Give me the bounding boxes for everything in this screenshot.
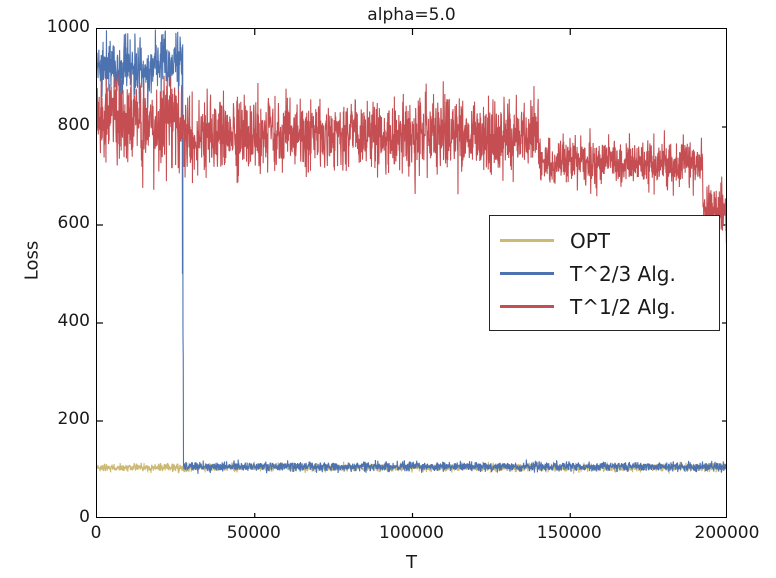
- legend-item[interactable]: T^2/3 Alg.: [500, 257, 709, 290]
- y-tick-label: 400: [4, 313, 90, 330]
- legend-item-label: OPT: [570, 230, 610, 252]
- x-axis-label: T: [96, 552, 727, 573]
- x-tick-label: 0: [91, 525, 102, 542]
- y-axis-tick-labels: 02004006008001000: [0, 0, 90, 578]
- x-tick-label: 100000: [379, 525, 444, 542]
- x-tick-label: 50000: [227, 525, 281, 542]
- legend-color-swatch: [500, 239, 554, 242]
- legend-color-swatch: [500, 305, 554, 308]
- legend-color-swatch: [500, 272, 554, 275]
- legend-item-label: T^1/2 Alg.: [570, 296, 676, 318]
- y-tick-label: 1000: [4, 19, 90, 36]
- y-tick-label: 200: [4, 411, 90, 428]
- x-tick-label: 200000: [695, 525, 760, 542]
- figure-canvas: alpha=5.0 Loss T 02004006008001000 05000…: [0, 0, 776, 578]
- y-tick-label: 800: [4, 117, 90, 134]
- y-tick-label: 0: [4, 509, 90, 526]
- legend-item[interactable]: T^1/2 Alg.: [500, 290, 709, 323]
- legend-box[interactable]: OPTT^2/3 Alg.T^1/2 Alg.: [489, 215, 720, 331]
- x-tick-label: 150000: [537, 525, 602, 542]
- chart-title: alpha=5.0: [96, 4, 727, 26]
- x-axis-tick-labels: 050000100000150000200000: [0, 525, 776, 555]
- legend-item-label: T^2/3 Alg.: [570, 263, 676, 285]
- legend-item[interactable]: OPT: [500, 224, 709, 257]
- y-tick-label: 600: [4, 215, 90, 232]
